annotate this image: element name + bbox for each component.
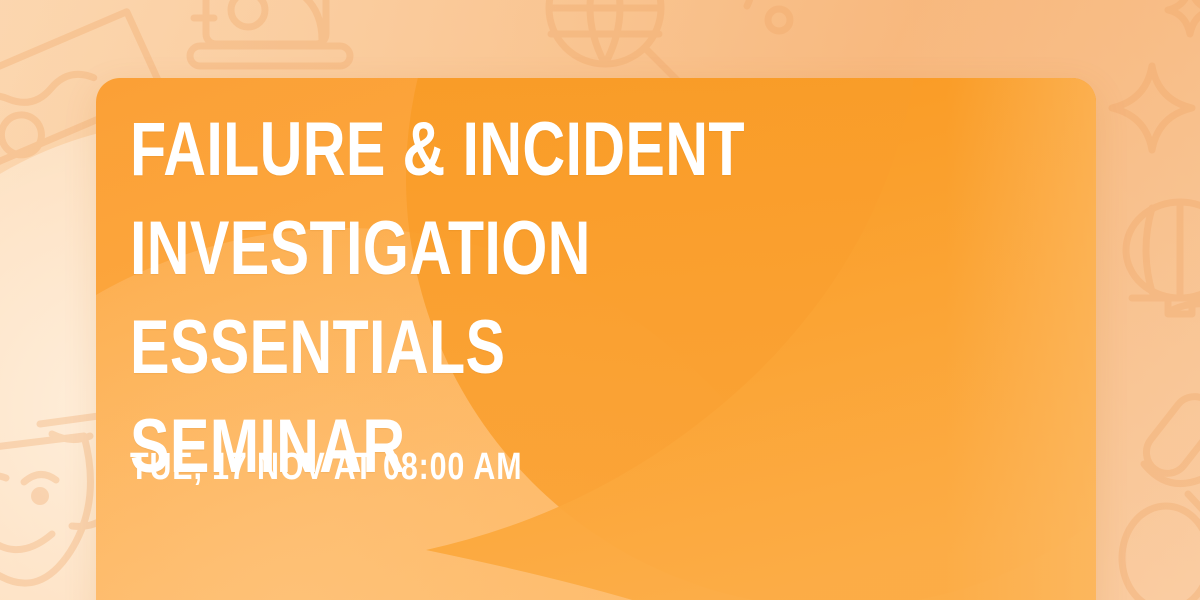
event-title: Failure & Incident Investigation Essenti… (130, 100, 852, 496)
event-card[interactable]: Failure & Incident Investigation Essenti… (96, 78, 1096, 600)
event-datetime: Tue, 17 Nov at 08:00 AM (130, 445, 522, 489)
event-banner: Failure & Incident Investigation Essenti… (0, 0, 1200, 600)
card-content: Failure & Incident Investigation Essenti… (130, 100, 1056, 600)
